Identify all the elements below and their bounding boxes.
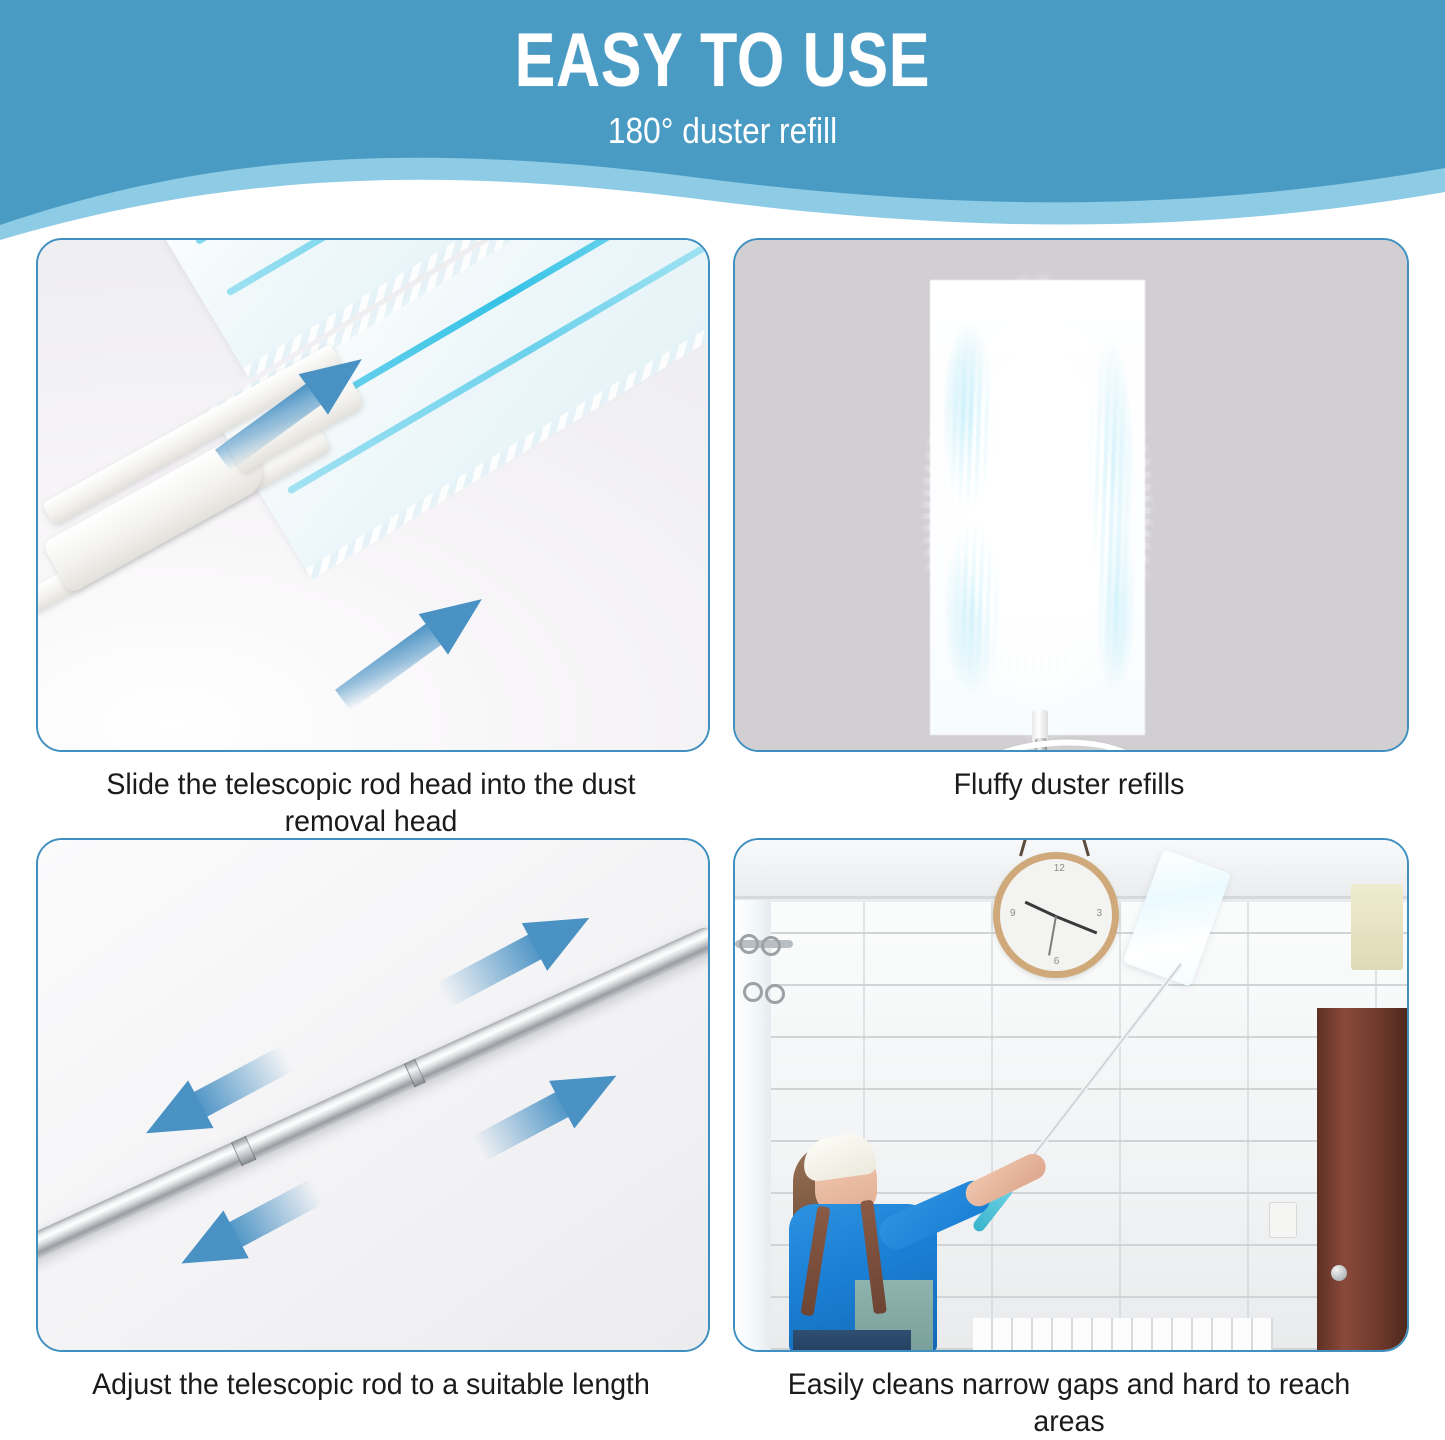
arrow-up-right-2	[328, 579, 497, 721]
direction-arrows-group	[38, 240, 708, 750]
photo-woman-dusting-wall: 12 3 6 9	[733, 838, 1409, 1352]
jeans	[793, 1330, 911, 1352]
wooden-door	[1317, 1008, 1407, 1350]
photo-fluffy-duster	[733, 238, 1409, 752]
photo-telescopic-rod	[36, 838, 710, 1352]
photo-duster-refill-sheet	[36, 238, 710, 752]
panel4-caption: Easily cleans narrow gaps and hard to re…	[750, 1352, 1388, 1440]
header-banner: EASY TO USE 180° duster refill	[0, 0, 1445, 240]
duster-fluffy-head	[930, 280, 1145, 735]
product-infographic: EASY TO USE 180° duster refill	[0, 0, 1445, 1437]
panel1-caption: Slide the telescopic rod head into the d…	[53, 752, 690, 840]
curtain-ring	[765, 984, 785, 1004]
wall-box	[1351, 884, 1403, 970]
arrow-up-right-1	[208, 339, 377, 481]
page-title: EASY TO USE	[145, 0, 1301, 104]
panel2-caption: Fluffy duster refills	[750, 752, 1388, 803]
wall-outlet	[1269, 1202, 1297, 1238]
clock-hour-hand	[1025, 901, 1057, 918]
arrow-up-right-top	[430, 894, 602, 1020]
panel3-caption: Adjust the telescopic rod to a suitable …	[53, 1352, 690, 1403]
curtain-ring	[739, 934, 759, 954]
arrow-up-right-bottom	[466, 1052, 629, 1173]
panel-fluffy-duster-refills: Fluffy duster refills	[733, 238, 1405, 803]
arrow-down-left-bottom	[169, 1167, 330, 1287]
door-knob	[1331, 1265, 1347, 1281]
direction-arrows-group	[38, 840, 708, 1350]
window-light-left	[735, 900, 771, 1350]
woman-cleaning	[771, 1130, 1001, 1350]
panel-grid: Slide the telescopic rod head into the d…	[0, 238, 1445, 1437]
page-subtitle: 180° duster refill	[87, 104, 1359, 152]
panel-slide-rod-into-head: Slide the telescopic rod head into the d…	[36, 238, 706, 840]
clock-minute-hand	[1055, 915, 1097, 934]
counter-shelf	[973, 1318, 1273, 1350]
arrow-down-left-top	[133, 1034, 300, 1157]
curtain-ring	[743, 982, 763, 1002]
panel-adjust-telescopic-rod: Adjust the telescopic rod to a suitable …	[36, 838, 706, 1403]
curtain-ring	[761, 936, 781, 956]
panel-clean-narrow-gaps: 12 3 6 9	[733, 838, 1405, 1440]
header-text-block: EASY TO USE 180° duster refill	[0, 0, 1445, 152]
clock-second-hand	[1048, 916, 1057, 956]
